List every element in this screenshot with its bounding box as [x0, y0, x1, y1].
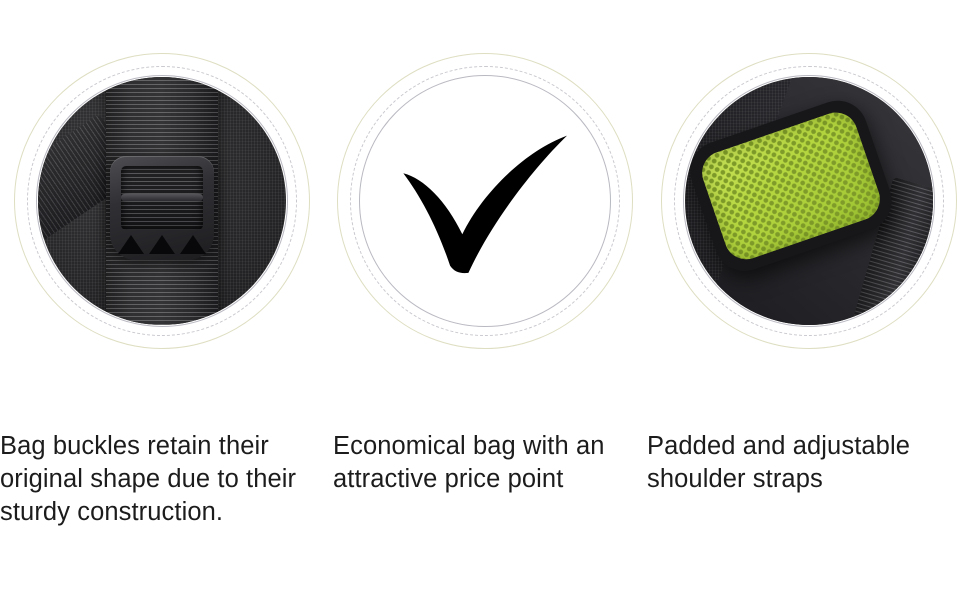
checkmark-graphic [337, 53, 633, 349]
outer-solid-ring [14, 53, 310, 349]
feature-caption-buckles: Bag buckles retain their original shape … [0, 430, 318, 529]
feature-column-price: Economical bag with an attractive price … [323, 0, 646, 600]
shoulder-strap-photo [661, 53, 957, 349]
outer-solid-ring [661, 53, 957, 349]
feature-caption-straps: Padded and adjustable shoulder straps [647, 430, 967, 496]
feature-column-straps: Padded and adjustable shoulder straps [647, 0, 970, 600]
feature-caption-price: Economical bag with an attractive price … [333, 430, 633, 496]
outer-solid-ring [337, 53, 633, 349]
feature-grid: Bag buckles retain their original shape … [0, 0, 970, 600]
feature-column-buckles: Bag buckles retain their original shape … [0, 0, 323, 600]
bag-buckle-photo [14, 53, 310, 349]
